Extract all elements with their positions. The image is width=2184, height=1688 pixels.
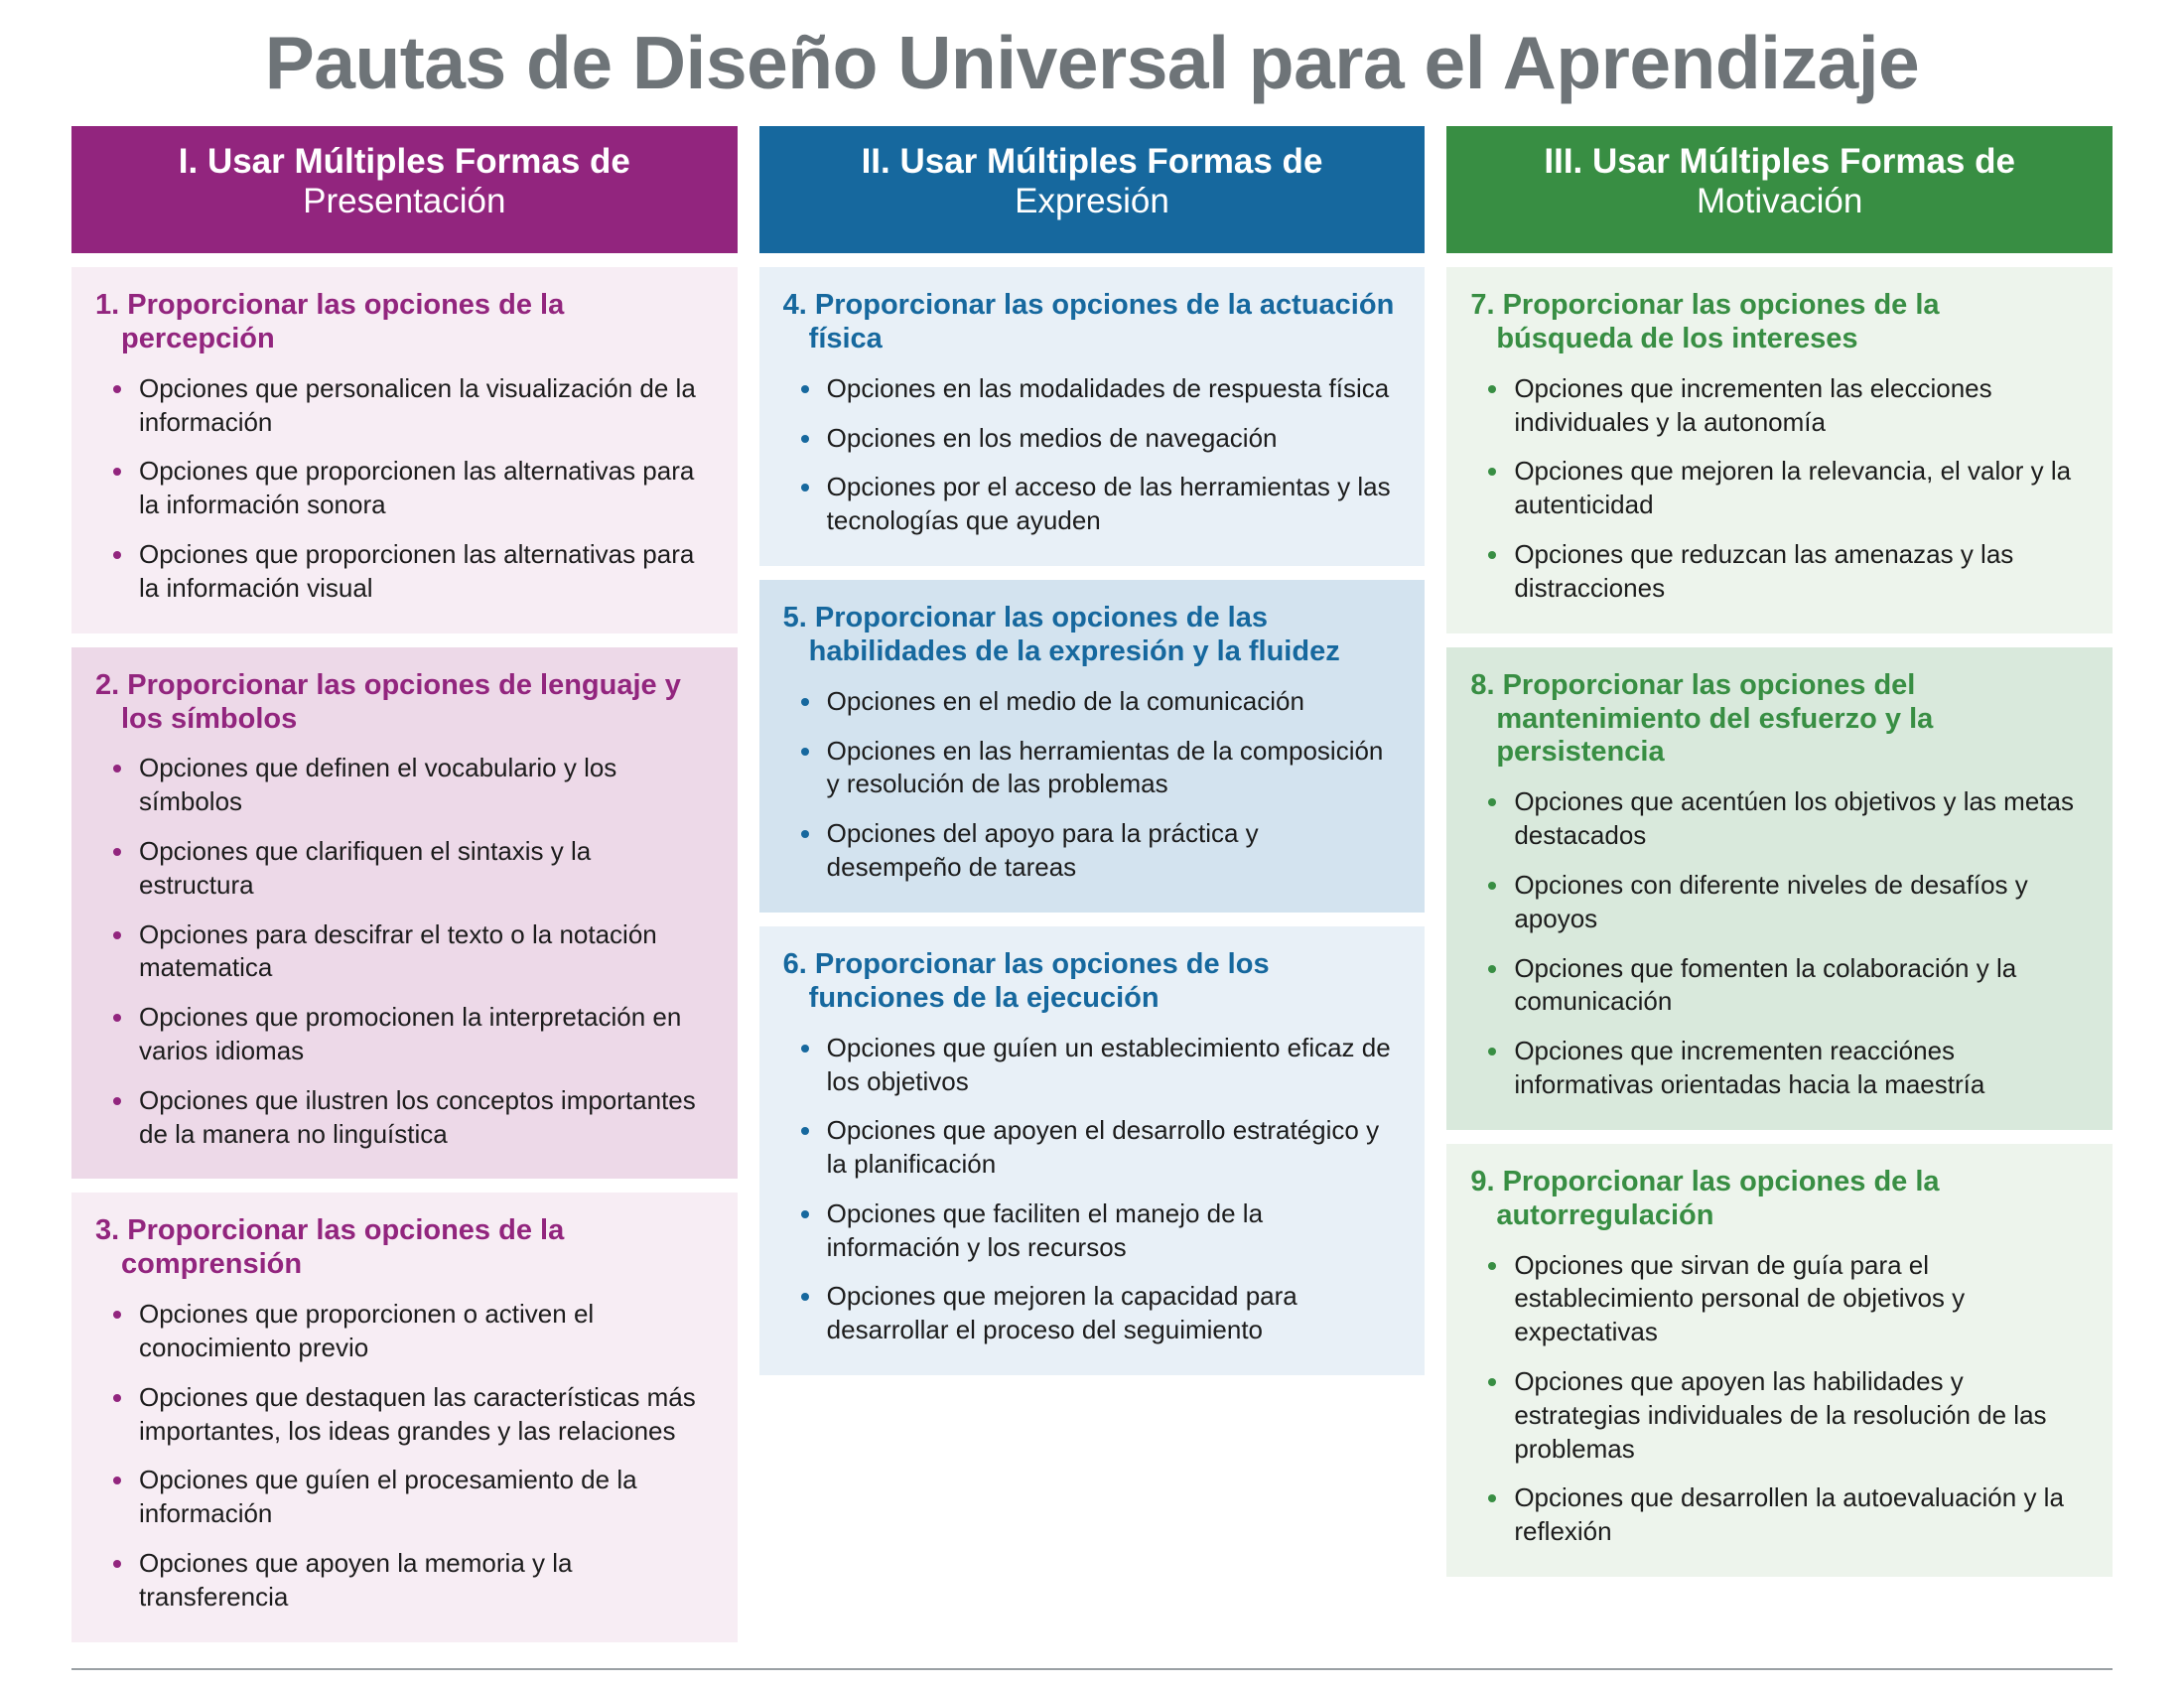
list-item: Opciones que definen el vocabulario y lo… (113, 752, 708, 819)
list-item: Opciones que faciliten el manejo de la i… (801, 1197, 1396, 1265)
guideline-cell-8: 8. Proporcionar las opciones del manteni… (1446, 647, 2113, 1130)
column-header-line1: I. Usar Múltiples Formas de (81, 144, 728, 180)
column-header-motivation: III. Usar Múltiples Formas de Motivación (1446, 126, 2113, 253)
guideline-heading-9: 9. Proporcionar las opciones de la autor… (1494, 1166, 2083, 1233)
guideline-cell-9: 9. Proporcionar las opciones de la autor… (1446, 1144, 2113, 1577)
guideline-bullets-9: Opciones que sirvan de guía para el esta… (1468, 1249, 2083, 1549)
udl-guidelines-poster: Pautas de Diseño Universal para el Apren… (0, 0, 2184, 1688)
guideline-cell-5: 5. Proporcionar las opciones de las habi… (759, 580, 1426, 913)
guideline-heading-3: 3. Proporcionar las opciones de la compr… (119, 1214, 708, 1282)
list-item: Opciones que reduzcan las amenazas y las… (1488, 538, 2083, 606)
list-item: Opciones que mejoren la relevancia, el v… (1488, 455, 2083, 522)
list-item: Opciones que guíen el procesamiento de l… (113, 1464, 708, 1531)
guideline-bullets-1: Opciones que personalicen la visualizaci… (93, 372, 708, 606)
guideline-cell-3: 3. Proporcionar las opciones de la compr… (71, 1193, 738, 1641)
guideline-bullets-7: Opciones que incrementen las elecciones … (1468, 372, 2083, 606)
list-item: Opciones que clarifiquen el sintaxis y l… (113, 835, 708, 903)
list-item: Opciones que sirvan de guía para el esta… (1488, 1249, 2083, 1349)
guideline-heading-5: 5. Proporcionar las opciones de las habi… (807, 602, 1396, 669)
guideline-bullets-3: Opciones que proporcionen o activen el c… (93, 1298, 708, 1614)
guideline-heading-6: 6. Proporcionar las opciones de los func… (807, 948, 1396, 1016)
list-item: Opciones que promocionen la interpretaci… (113, 1001, 708, 1068)
guideline-bullets-4: Opciones en las modalidades de respuesta… (781, 372, 1396, 538)
list-item: Opciones que acentúen los objetivos y la… (1488, 785, 2083, 853)
list-item: Opciones que mejoren la capacidad para d… (801, 1280, 1396, 1347)
list-item: Opciones en el medio de la comunicación (801, 685, 1396, 719)
guideline-cell-1: 1. Proporcionar las opciones de la perce… (71, 267, 738, 633)
guideline-bullets-6: Opciones que guíen un establecimiento ef… (781, 1032, 1396, 1347)
guideline-bullets-8: Opciones que acentúen los objetivos y la… (1468, 785, 2083, 1101)
column-motivation: III. Usar Múltiples Formas de Motivación… (1446, 126, 2113, 1642)
list-item: Opciones por el acceso de las herramient… (801, 471, 1396, 538)
guideline-cell-2: 2. Proporcionar las opciones de lenguaje… (71, 647, 738, 1180)
column-presentation: I. Usar Múltiples Formas de Presentación… (71, 126, 738, 1642)
list-item: Opciones que personalicen la visualizaci… (113, 372, 708, 440)
column-header-line2: Motivación (1456, 184, 2103, 219)
list-item: Opciones para descifrar el texto o la no… (113, 918, 708, 986)
guideline-cell-4: 4. Proporcionar las opciones de la actua… (759, 267, 1426, 566)
guidelines-grid: I. Usar Múltiples Formas de Presentación… (71, 126, 2113, 1642)
list-item: Opciones en los medios de navegación (801, 422, 1396, 456)
guideline-heading-1: 1. Proporcionar las opciones de la perce… (119, 289, 708, 356)
list-item: Opciones que apoyen las habilidades y es… (1488, 1365, 2083, 1466)
list-item: Opciones que incrementen las elecciones … (1488, 372, 2083, 440)
list-item: Opciones con diferente niveles de desafí… (1488, 869, 2083, 936)
guideline-bullets-2: Opciones que definen el vocabulario y lo… (93, 752, 708, 1151)
guideline-heading-7: 7. Proporcionar las opciones de la búsqu… (1494, 289, 2083, 356)
column-header-line2: Presentación (81, 184, 728, 219)
list-item: Opciones que proporcionen o activen el c… (113, 1298, 708, 1365)
list-item: Opciones que proporcionen las alternativ… (113, 455, 708, 522)
column-header-line1: III. Usar Múltiples Formas de (1456, 144, 2103, 180)
list-item: Opciones que apoyen el desarrollo estrat… (801, 1114, 1396, 1182)
list-item: Opciones del apoyo para la práctica y de… (801, 817, 1396, 885)
guideline-cell-6: 6. Proporcionar las opciones de los func… (759, 926, 1426, 1375)
list-item: Opciones que desarrollen la autoevaluaci… (1488, 1481, 2083, 1549)
guideline-bullets-5: Opciones en el medio de la comunicación … (781, 685, 1396, 885)
list-item: Opciones que proporcionen las alternativ… (113, 538, 708, 606)
guideline-heading-8: 8. Proporcionar las opciones del manteni… (1494, 669, 2083, 771)
column-expression: II. Usar Múltiples Formas de Expresión 4… (759, 126, 1426, 1642)
list-item: Opciones que incrementen reacciónes info… (1488, 1035, 2083, 1102)
guideline-heading-2: 2. Proporcionar las opciones de lenguaje… (119, 669, 708, 737)
page-title: Pautas de Diseño Universal para el Apren… (71, 0, 2113, 126)
list-item: Opciones en las herramientas de la compo… (801, 735, 1396, 802)
list-item: Opciones en las modalidades de respuesta… (801, 372, 1396, 406)
list-item: Opciones que guíen un establecimiento ef… (801, 1032, 1396, 1099)
column-header-line1: II. Usar Múltiples Formas de (769, 144, 1416, 180)
list-item: Opciones que fomenten la colaboración y … (1488, 952, 2083, 1020)
column-header-presentation: I. Usar Múltiples Formas de Presentación (71, 126, 738, 253)
list-item: Opciones que destaquen las característic… (113, 1381, 708, 1449)
guideline-heading-4: 4. Proporcionar las opciones de la actua… (807, 289, 1396, 356)
list-item: Opciones que ilustren los conceptos impo… (113, 1084, 708, 1152)
guideline-cell-7: 7. Proporcionar las opciones de la búsqu… (1446, 267, 2113, 633)
list-item: Opciones que apoyen la memoria y la tran… (113, 1547, 708, 1615)
column-header-expression: II. Usar Múltiples Formas de Expresión (759, 126, 1426, 253)
footer: CAST Universal Design for Learning © 200… (71, 1670, 2113, 1688)
column-header-line2: Expresión (769, 184, 1416, 219)
